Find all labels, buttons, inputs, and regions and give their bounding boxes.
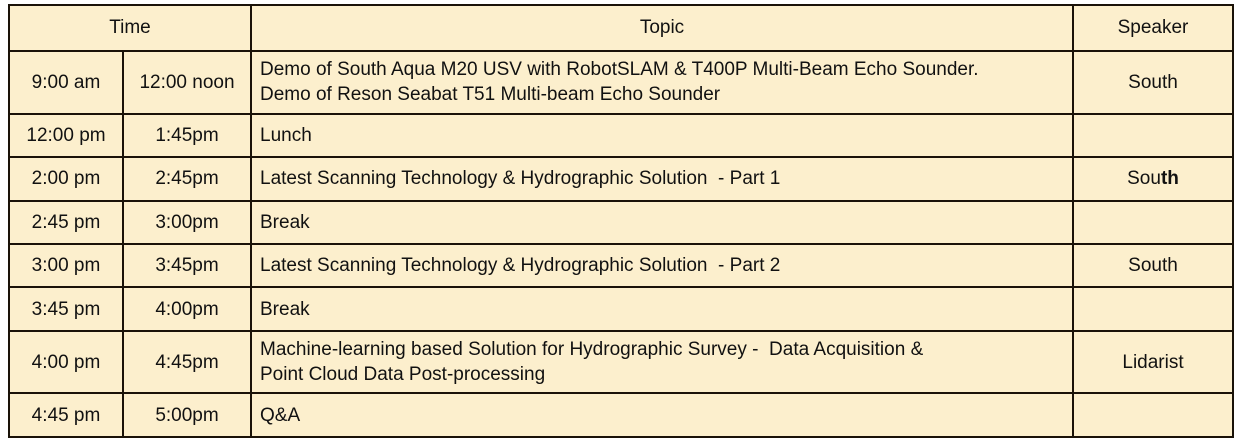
cell-start-time: 3:00 pm [9, 244, 123, 287]
cell-end-time: 3:00pm [123, 201, 251, 244]
table-row: 4:45 pm5:00pmQ&A [9, 393, 1233, 437]
cell-end-time: 12:00 noon [123, 51, 251, 114]
topic-line: Machine-learning based Solution for Hydr… [260, 337, 1064, 362]
cell-end-time: 5:00pm [123, 393, 251, 437]
cell-start-time: 12:00 pm [9, 114, 123, 157]
cell-start-time: 4:00 pm [9, 331, 123, 394]
table-row: 9:00 am12:00 noonDemo of South Aqua M20 … [9, 51, 1233, 114]
cell-speaker [1073, 114, 1233, 157]
table-row: 12:00 pm1:45pmLunch [9, 114, 1233, 157]
cell-speaker [1073, 287, 1233, 330]
cell-topic: Latest Scanning Technology & Hydrographi… [251, 244, 1073, 287]
topic-line: Q&A [260, 403, 1064, 428]
cell-start-time: 2:45 pm [9, 201, 123, 244]
speaker-name-plain: Sou [1127, 168, 1161, 189]
cell-speaker: Lidarist [1073, 331, 1233, 394]
topic-line: Latest Scanning Technology & Hydrographi… [260, 166, 1064, 191]
column-header-speaker: Speaker [1073, 5, 1233, 51]
table-row: 2:00 pm2:45pmLatest Scanning Technology … [9, 157, 1233, 200]
cell-speaker: South [1073, 51, 1233, 114]
table-row: 3:45 pm4:00pmBreak [9, 287, 1233, 330]
speaker-name-bold: th [1161, 168, 1179, 189]
cell-end-time: 4:00pm [123, 287, 251, 330]
cell-start-time: 9:00 am [9, 51, 123, 114]
cell-topic: Break [251, 287, 1073, 330]
cell-topic: Lunch [251, 114, 1073, 157]
column-header-time: Time [9, 5, 251, 51]
cell-topic: Break [251, 201, 1073, 244]
schedule-body: 9:00 am12:00 noonDemo of South Aqua M20 … [9, 51, 1233, 437]
cell-end-time: 2:45pm [123, 157, 251, 200]
column-header-topic: Topic [251, 5, 1073, 51]
cell-speaker: South [1073, 244, 1233, 287]
table-row: 3:00 pm3:45pmLatest Scanning Technology … [9, 244, 1233, 287]
cell-topic: Machine-learning based Solution for Hydr… [251, 331, 1073, 394]
cell-start-time: 4:45 pm [9, 393, 123, 437]
cell-speaker [1073, 393, 1233, 437]
cell-topic: Q&A [251, 393, 1073, 437]
cell-speaker [1073, 201, 1233, 244]
topic-line: Point Cloud Data Post-processing [260, 362, 1064, 387]
cell-start-time: 2:00 pm [9, 157, 123, 200]
topic-line: Latest Scanning Technology & Hydrographi… [260, 253, 1064, 278]
topic-line: Break [260, 297, 1064, 322]
table-header-row: Time Topic Speaker [9, 5, 1233, 51]
cell-start-time: 3:45 pm [9, 287, 123, 330]
topic-line: Break [260, 210, 1064, 235]
schedule-table: Time Topic Speaker 9:00 am12:00 noonDemo… [8, 4, 1234, 438]
topic-line: Demo of South Aqua M20 USV with RobotSLA… [260, 57, 1064, 82]
table-row: 4:00 pm4:45pmMachine-learning based Solu… [9, 331, 1233, 394]
table-row: 2:45 pm3:00pmBreak [9, 201, 1233, 244]
cell-end-time: 3:45pm [123, 244, 251, 287]
schedule-sheet: Time Topic Speaker 9:00 am12:00 noonDemo… [0, 0, 1240, 442]
cell-speaker: South [1073, 157, 1233, 200]
cell-end-time: 1:45pm [123, 114, 251, 157]
cell-topic: Latest Scanning Technology & Hydrographi… [251, 157, 1073, 200]
cell-topic: Demo of South Aqua M20 USV with RobotSLA… [251, 51, 1073, 114]
cell-end-time: 4:45pm [123, 331, 251, 394]
topic-line: Demo of Reson Seabat T51 Multi-beam Echo… [260, 82, 1064, 107]
topic-line: Lunch [260, 123, 1064, 148]
